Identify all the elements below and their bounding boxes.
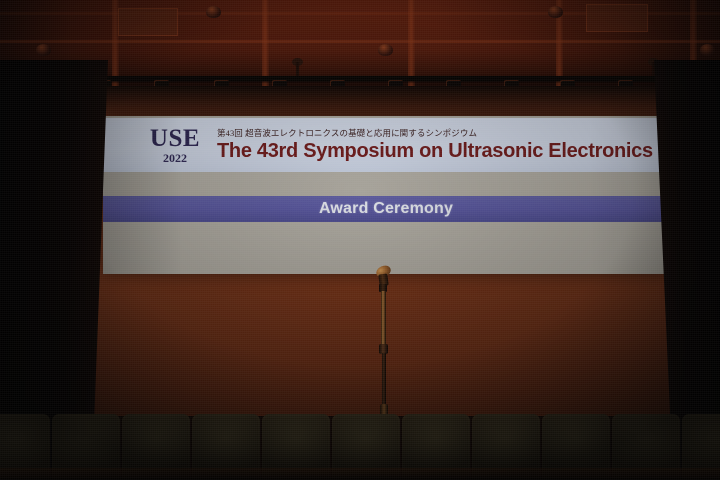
ceiling-pot-light bbox=[36, 44, 51, 56]
ceiling-pot-light bbox=[206, 6, 221, 18]
stage-top-shadow bbox=[0, 86, 720, 120]
slide-header-band: USE 2022 第43回 超音波エレクトロニクスの基礎と応用に関するシンポジウ… bbox=[103, 118, 669, 172]
ceiling-pot-light bbox=[700, 44, 715, 56]
slide-title-block: 第43回 超音波エレクトロニクスの基礎と応用に関するシンポジウム The 43r… bbox=[217, 129, 653, 161]
floor-strip bbox=[0, 468, 720, 480]
microphone-pole-upper bbox=[381, 291, 386, 345]
ceiling-vent bbox=[118, 8, 178, 36]
use-logo-acronym: USE bbox=[137, 126, 213, 151]
slide-section-bar: Award Ceremony bbox=[103, 196, 669, 222]
slide-upper-gap bbox=[103, 172, 669, 196]
ceiling-rail bbox=[0, 40, 720, 43]
use-logo: USE 2022 bbox=[137, 126, 213, 164]
ceiling-vent bbox=[586, 4, 648, 32]
ceiling-pot-light bbox=[548, 6, 563, 18]
slide-title-english: The 43rd Symposium on Ultrasonic Electro… bbox=[217, 141, 653, 161]
auditorium-scene: USE 2022 第43回 超音波エレクトロニクスの基礎と応用に関するシンポジウ… bbox=[0, 0, 720, 480]
slide-section-label: Award Ceremony bbox=[319, 200, 453, 218]
slide-subtitle-japanese: 第43回 超音波エレクトロニクスの基礎と応用に関するシンポジウム bbox=[217, 129, 653, 138]
use-logo-year: 2022 bbox=[137, 152, 213, 164]
projection-screen: USE 2022 第43回 超音波エレクトロニクスの基礎と応用に関するシンポジウ… bbox=[103, 116, 669, 274]
ceiling-pot-light bbox=[378, 44, 393, 56]
